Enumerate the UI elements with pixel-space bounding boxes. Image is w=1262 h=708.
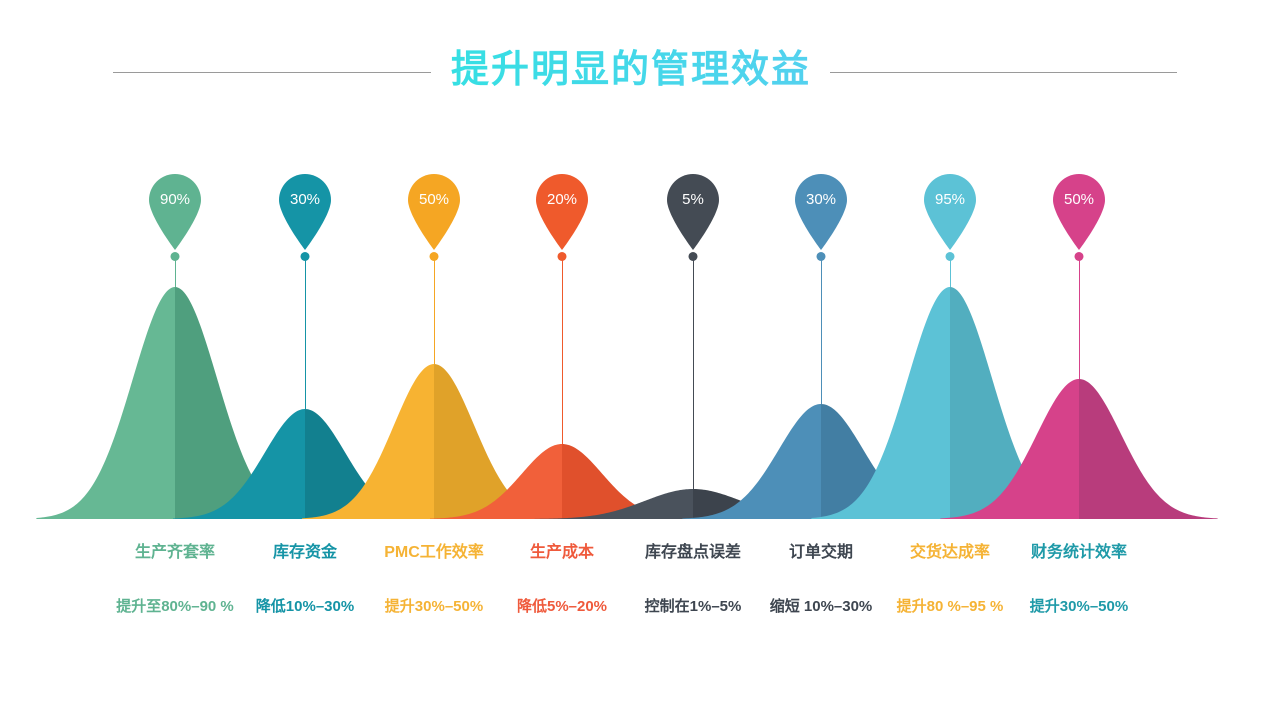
infographic-canvas: 提升明显的管理效益 90%30%50%20%5%30%95%50% 生产齐套率提… [0,0,1262,708]
category-name: 生产成本 [517,542,607,564]
pin-shape-icon [404,172,464,250]
pin-stem-production-kitting-rate [175,258,176,287]
pin-marker-finance-statistics-efficiency[interactable]: 50% [1049,172,1109,250]
pin-dot-inventory-capital [301,252,310,261]
pin-body [408,174,460,250]
pin-body [795,174,847,250]
pin-marker-pmc-work-efficiency[interactable]: 50% [404,172,464,250]
category-name: 库存盘点误差 [645,542,742,564]
category-label-finance-statistics-efficiency[interactable]: 财务统计效率提升30%–50% [1030,542,1128,617]
pin-marker-inventory-capital[interactable]: 30% [275,172,335,250]
category-detail: 降低10%–30% [256,597,354,617]
curve-left-half [36,287,175,519]
pin-stem-inventory-capital [305,258,306,409]
pin-stem-pmc-work-efficiency [434,258,435,364]
pin-shape-icon [920,172,980,250]
category-label-row: 生产齐套率提升至80%–90 %库存资金降低10%–30%PMC工作效率提升30… [0,542,1262,642]
pin-marker-order-lead-time[interactable]: 30% [791,172,851,250]
pin-shape-icon [275,172,335,250]
pin-dot-production-cost [558,252,567,261]
pin-body [667,174,719,250]
pin-shape-icon [791,172,851,250]
pin-dot-production-kitting-rate [171,252,180,261]
category-name: 订单交期 [770,542,873,564]
category-name: PMC工作效率 [384,542,484,564]
pin-body [1053,174,1105,250]
pin-marker-inventory-count-error[interactable]: 5% [663,172,723,250]
category-label-inventory-count-error[interactable]: 库存盘点误差控制在1%–5% [645,542,742,617]
pin-dot-delivery-achievement-rate [946,252,955,261]
pin-shape-icon [145,172,205,250]
category-name: 财务统计效率 [1030,542,1128,564]
category-detail: 降低5%–20% [517,597,607,617]
pin-stem-inventory-count-error [693,258,694,489]
category-detail: 提升30%–50% [1030,597,1128,617]
category-name: 库存资金 [256,542,354,564]
pin-dot-pmc-work-efficiency [430,252,439,261]
curve-right-half [1079,379,1218,519]
category-detail: 提升30%–50% [384,597,484,617]
pin-shape-icon [1049,172,1109,250]
category-detail: 控制在1%–5% [645,597,742,617]
category-detail: 提升至80%–90 % [116,597,234,617]
pin-stem-order-lead-time [821,258,822,404]
pin-stem-finance-statistics-efficiency [1079,258,1080,379]
pin-marker-delivery-achievement-rate[interactable]: 95% [920,172,980,250]
pin-marker-production-kitting-rate[interactable]: 90% [145,172,205,250]
pin-shape-icon [663,172,723,250]
category-label-production-cost[interactable]: 生产成本降低5%–20% [517,542,607,617]
category-label-delivery-achievement-rate[interactable]: 交货达成率提升80 %–95 % [897,542,1004,617]
category-detail: 缩短 10%–30% [770,597,873,617]
category-detail: 提升80 %–95 % [897,597,1004,617]
pin-body [279,174,331,250]
category-label-order-lead-time[interactable]: 订单交期缩短 10%–30% [770,542,873,617]
pin-shape-icon [532,172,592,250]
pin-stem-production-cost [562,258,563,444]
pin-body [924,174,976,250]
pin-dot-order-lead-time [817,252,826,261]
pin-stem-delivery-achievement-rate [950,258,951,287]
pin-body [536,174,588,250]
pin-body [149,174,201,250]
category-label-production-kitting-rate[interactable]: 生产齐套率提升至80%–90 % [116,542,234,617]
category-name: 交货达成率 [897,542,1004,564]
category-name: 生产齐套率 [116,542,234,564]
category-label-inventory-capital[interactable]: 库存资金降低10%–30% [256,542,354,617]
pin-dot-inventory-count-error [689,252,698,261]
category-label-pmc-work-efficiency[interactable]: PMC工作效率提升30%–50% [384,542,484,617]
pin-dot-finance-statistics-efficiency [1075,252,1084,261]
pin-marker-production-cost[interactable]: 20% [532,172,592,250]
